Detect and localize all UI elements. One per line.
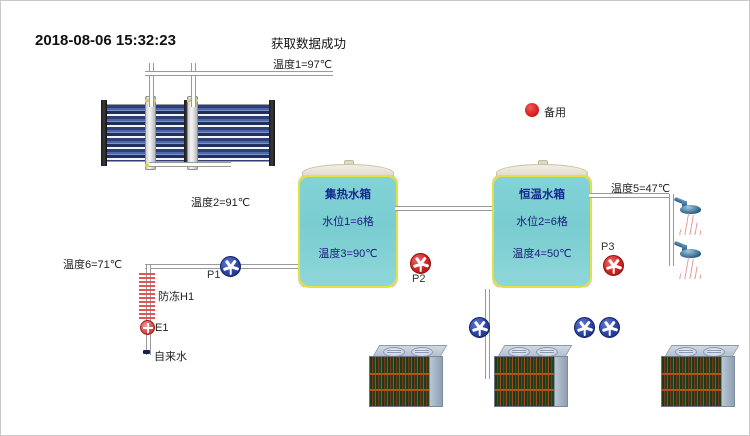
tank1-level: 水位1=6格 xyxy=(300,213,396,229)
shower-rose-icon xyxy=(680,249,701,258)
tank2-level: 水位2=6格 xyxy=(494,213,590,229)
hp2-coil-face xyxy=(494,356,557,407)
tank2-title: 恒温水箱 xyxy=(494,186,590,202)
collector-panel-right xyxy=(195,104,273,162)
shower-rose-icon xyxy=(680,205,701,214)
shower-supply-top-plain xyxy=(589,193,669,198)
solar-collector-array xyxy=(101,104,273,162)
hp1-coil-face xyxy=(369,356,432,407)
temp6-label: 温度6=71℃ xyxy=(63,256,122,272)
scada-diagram-canvas: 2018-08-06 15:32:23 获取数据成功 温度1=97℃ 备用 温度… xyxy=(0,0,750,436)
timestamp-label: 2018-08-06 15:32:23 xyxy=(35,32,176,49)
standby-label: 备用 xyxy=(544,104,566,120)
water-supply-label: 自来水 xyxy=(154,348,187,364)
hp3-side-panel xyxy=(721,356,735,407)
tank1-title: 集热水箱 xyxy=(300,186,396,202)
tank1-temp: 温度3=90℃ xyxy=(300,245,396,261)
shower-head-lower xyxy=(673,241,707,281)
shower-spray-icon xyxy=(678,257,703,279)
collector-plain-crossbar-bottom xyxy=(149,162,231,167)
heat-pump-unit-3[interactable] xyxy=(661,345,735,407)
status-message-label: 获取数据成功 xyxy=(271,33,346,52)
collector-end-cap-right xyxy=(269,100,275,166)
tank-constant-temp[interactable]: 恒温水箱 水位2=6格 温度4=50℃ xyxy=(492,164,592,288)
collector-manifold-right xyxy=(187,96,198,170)
pump-p2[interactable] xyxy=(410,253,431,274)
e1-label: E1 xyxy=(155,322,168,334)
heat-pump-unit-1[interactable] xyxy=(369,345,443,407)
pump-p3-label: P3 xyxy=(601,241,614,253)
pump-p1-label: P1 xyxy=(207,269,220,281)
pump-p1[interactable] xyxy=(220,256,241,277)
antifreeze-heater-h1-icon xyxy=(139,273,155,321)
pump-p2-label: P2 xyxy=(412,273,425,285)
collector-end-cap-left xyxy=(101,100,107,166)
antifreeze-label: 防冻H1 xyxy=(158,288,194,304)
collector-manifold-left xyxy=(145,96,156,170)
temp2-label: 温度2=91℃ xyxy=(191,194,250,210)
tank-collector[interactable]: 集热水箱 水位1=6格 温度3=90℃ xyxy=(298,164,398,288)
tank1-body: 集热水箱 水位1=6格 温度3=90℃ xyxy=(298,175,398,288)
water-supply-cap-icon xyxy=(143,350,150,354)
pump-p3[interactable] xyxy=(603,255,624,276)
hp2-side-panel xyxy=(554,356,568,407)
pump-hp-loop-3[interactable] xyxy=(599,317,620,338)
hp3-coil-face xyxy=(661,356,724,407)
collector-panel-left xyxy=(103,104,147,162)
pump-hp-loop-2[interactable] xyxy=(574,317,595,338)
collector-panel-middle xyxy=(155,104,187,162)
tank2-temp: 温度4=50℃ xyxy=(494,245,590,261)
collector-riser-right xyxy=(191,63,196,107)
collector-plain-crossbar-top xyxy=(145,71,333,76)
tank2-body: 恒温水箱 水位2=6格 温度4=50℃ xyxy=(492,175,592,288)
temp1-label: 温度1=97℃ xyxy=(273,56,332,72)
heat-pump-unit-2[interactable] xyxy=(494,345,568,407)
pump-hp-loop-1[interactable] xyxy=(469,317,490,338)
standby-indicator-icon xyxy=(525,103,539,117)
collector-riser-left xyxy=(149,63,154,107)
hp1-side-panel xyxy=(429,356,443,407)
valve-e1-icon[interactable] xyxy=(140,320,155,335)
shower-head-upper xyxy=(673,197,707,237)
shower-spray-icon xyxy=(678,213,703,235)
